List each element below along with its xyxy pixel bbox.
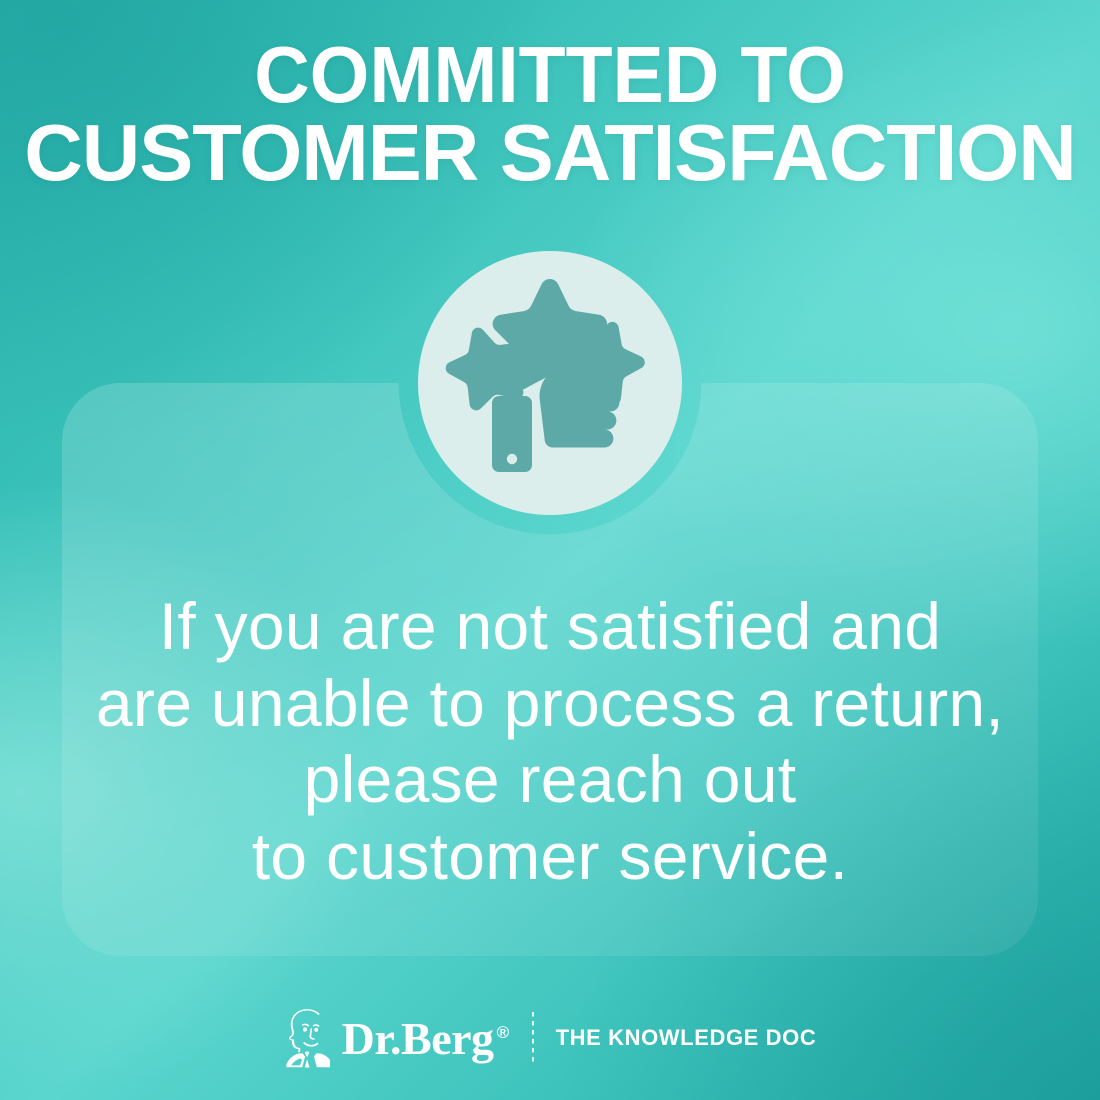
page-title: COMMITTED TO CUSTOMER SATISFACTION bbox=[22, 36, 1078, 193]
dashed-divider bbox=[532, 1012, 534, 1064]
brand-wordmark: Dr.Berg® bbox=[342, 1016, 506, 1062]
footer-branding: Dr.Berg® THE KNOWLEDGE DOC bbox=[0, 1000, 1100, 1076]
brand-tagline: THE KNOWLEDGE DOC bbox=[556, 1025, 817, 1051]
registered-trademark-icon: ® bbox=[497, 1023, 509, 1042]
brand-name-text: Dr.Berg bbox=[342, 1013, 494, 1064]
body-line-1: If you are not satisfied and bbox=[70, 588, 1030, 665]
body-line-2: are unable to process a return, bbox=[70, 665, 1030, 742]
body-line-3: please reach out bbox=[70, 741, 1030, 818]
headline-line-1: COMMITTED TO bbox=[22, 36, 1078, 114]
body-message: If you are not satisfied and are unable … bbox=[70, 588, 1030, 894]
dr-berg-portrait-icon bbox=[284, 1008, 330, 1068]
body-line-4: to customer service. bbox=[70, 818, 1030, 895]
headline-line-2: CUSTOMER SATISFACTION bbox=[0, 114, 1100, 192]
palm-card-dot-icon bbox=[507, 454, 517, 464]
five-star-thumbs-up-icon bbox=[418, 251, 682, 515]
poster-canvas: COMMITTED TO CUSTOMER SATISFACTION bbox=[0, 0, 1100, 1100]
satisfaction-badge bbox=[418, 251, 682, 515]
